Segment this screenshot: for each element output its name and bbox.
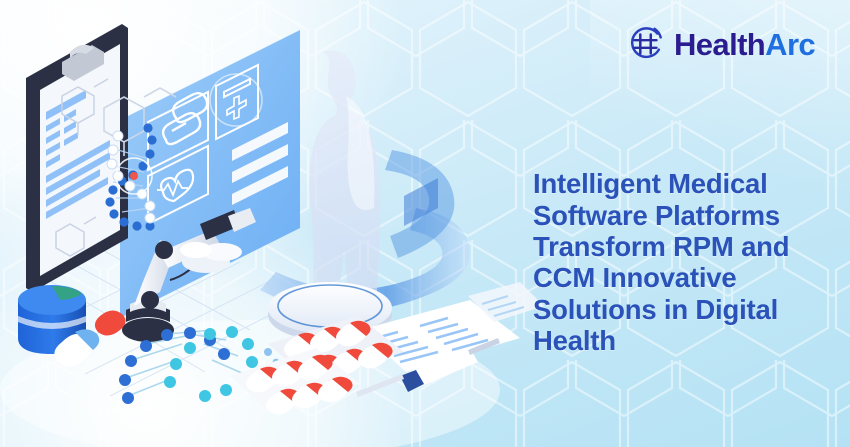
clipboard-with-chemical-structures xyxy=(26,24,128,292)
healtharc-arc-h-icon xyxy=(627,25,665,63)
headline-line-5: Solutions in Digital xyxy=(533,294,833,325)
banner-root: HealthArc Intelligent Medical Software P… xyxy=(0,0,850,447)
page-headline: Intelligent Medical Software Platforms T… xyxy=(533,168,833,356)
logo-wordmark: HealthArc xyxy=(674,29,815,60)
logo-word-arc: Arc xyxy=(765,27,815,62)
logo-word-health: Health xyxy=(674,27,765,62)
headline-line-2: Software Platforms xyxy=(533,200,833,231)
headline-line-1: Intelligent Medical xyxy=(533,168,833,199)
tablet-tray xyxy=(180,242,242,273)
illustration-digital-health xyxy=(0,0,560,447)
headline-line-4: CCM Innovative xyxy=(533,262,833,293)
headline-line-6: Health xyxy=(533,325,833,356)
healtharc-logo[interactable]: HealthArc xyxy=(627,22,815,66)
headline-line-3: Transform RPM and xyxy=(533,231,833,262)
